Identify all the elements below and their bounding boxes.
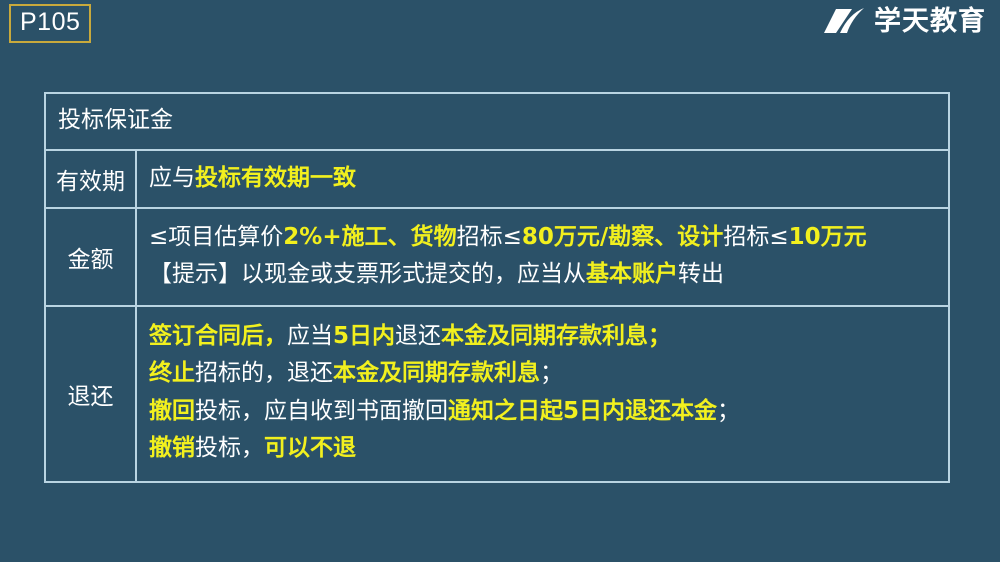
plain-text: ； xyxy=(717,398,740,424)
plain-text: 应与 xyxy=(149,165,195,191)
brand-name: 学天教育 xyxy=(874,8,986,35)
plain-text: 转出 xyxy=(678,261,724,287)
table-row-amount: 金额 ≤项目估算价2%+施工、货物招标≤80万元/勘察、设计招标≤10万元 【提… xyxy=(46,209,948,308)
table-row-refund: 退还 签订合同后，应当5日内退还本金及同期存款利息； 终止招标的，退还本金及同期… xyxy=(46,307,948,481)
table-row-validity: 有效期 应与投标有效期一致 xyxy=(46,151,948,208)
text-line: 撤销投标，可以不退 xyxy=(149,430,938,467)
highlighted-text: 签订合同后， xyxy=(149,323,287,349)
plain-text: 招标≤ xyxy=(457,224,522,250)
highlighted-text: 撤回 xyxy=(149,398,195,424)
brand-logo: 学天教育 xyxy=(822,6,986,36)
highlighted-text: 80万元/勘察、设计 xyxy=(522,224,723,250)
row-label-amount: 金额 xyxy=(46,209,137,306)
table-row-title: 投标保证金 xyxy=(46,94,948,151)
plain-text: 退还 xyxy=(395,323,441,349)
row-content-amount: ≤项目估算价2%+施工、货物招标≤80万元/勘察、设计招标≤10万元 【提示】以… xyxy=(137,209,948,306)
highlighted-text: 2%+施工、货物 xyxy=(283,224,456,250)
text-line: 【提示】以现金或支票形式提交的，应当从基本账户转出 xyxy=(149,256,938,293)
plain-text: ； xyxy=(540,360,563,386)
page-number-badge: P105 xyxy=(9,4,91,43)
plain-text: 投标，应自收到书面撤回 xyxy=(195,398,448,424)
highlighted-text: 可以不退 xyxy=(264,435,356,461)
plain-text: 招标的，退还 xyxy=(195,360,333,386)
plain-text: 投标， xyxy=(195,435,264,461)
text-line: 应与投标有效期一致 xyxy=(149,160,938,197)
highlighted-text: 终止 xyxy=(149,360,195,386)
guarantee-table: 投标保证金 有效期 应与投标有效期一致 金额 ≤项目估算价2%+施工、货物招标≤… xyxy=(44,92,950,483)
row-label-validity: 有效期 xyxy=(46,151,137,206)
swoosh-logo-icon xyxy=(822,6,866,36)
table-title-text: 投标保证金 xyxy=(46,94,948,149)
highlighted-text: 10万元 xyxy=(789,224,867,250)
highlighted-text: 通知之日起5日内退还本金 xyxy=(448,398,717,424)
highlighted-text: 基本账户 xyxy=(586,261,678,287)
plain-text: 应当 xyxy=(287,323,333,349)
highlighted-text: 撤销 xyxy=(149,435,195,461)
text-line: 撤回投标，应自收到书面撤回通知之日起5日内退还本金； xyxy=(149,393,938,430)
plain-text: ≤项目估算价 xyxy=(149,224,283,250)
highlighted-text: 本金及同期存款利息 xyxy=(333,360,540,386)
text-line: 终止招标的，退还本金及同期存款利息； xyxy=(149,355,938,392)
row-label-refund: 退还 xyxy=(46,307,137,481)
row-content-validity: 应与投标有效期一致 xyxy=(137,151,948,206)
highlighted-text: 投标有效期一致 xyxy=(195,165,356,191)
highlighted-text: 本金及同期存款利息； xyxy=(441,323,671,349)
highlighted-text: 5日内 xyxy=(333,323,395,349)
text-line: 签订合同后，应当5日内退还本金及同期存款利息； xyxy=(149,318,938,355)
plain-text: 【提示】以现金或支票形式提交的，应当从 xyxy=(149,261,586,287)
row-content-refund: 签订合同后，应当5日内退还本金及同期存款利息； 终止招标的，退还本金及同期存款利… xyxy=(137,307,948,481)
plain-text: 招标≤ xyxy=(723,224,788,250)
text-line: ≤项目估算价2%+施工、货物招标≤80万元/勘察、设计招标≤10万元 xyxy=(149,219,938,256)
